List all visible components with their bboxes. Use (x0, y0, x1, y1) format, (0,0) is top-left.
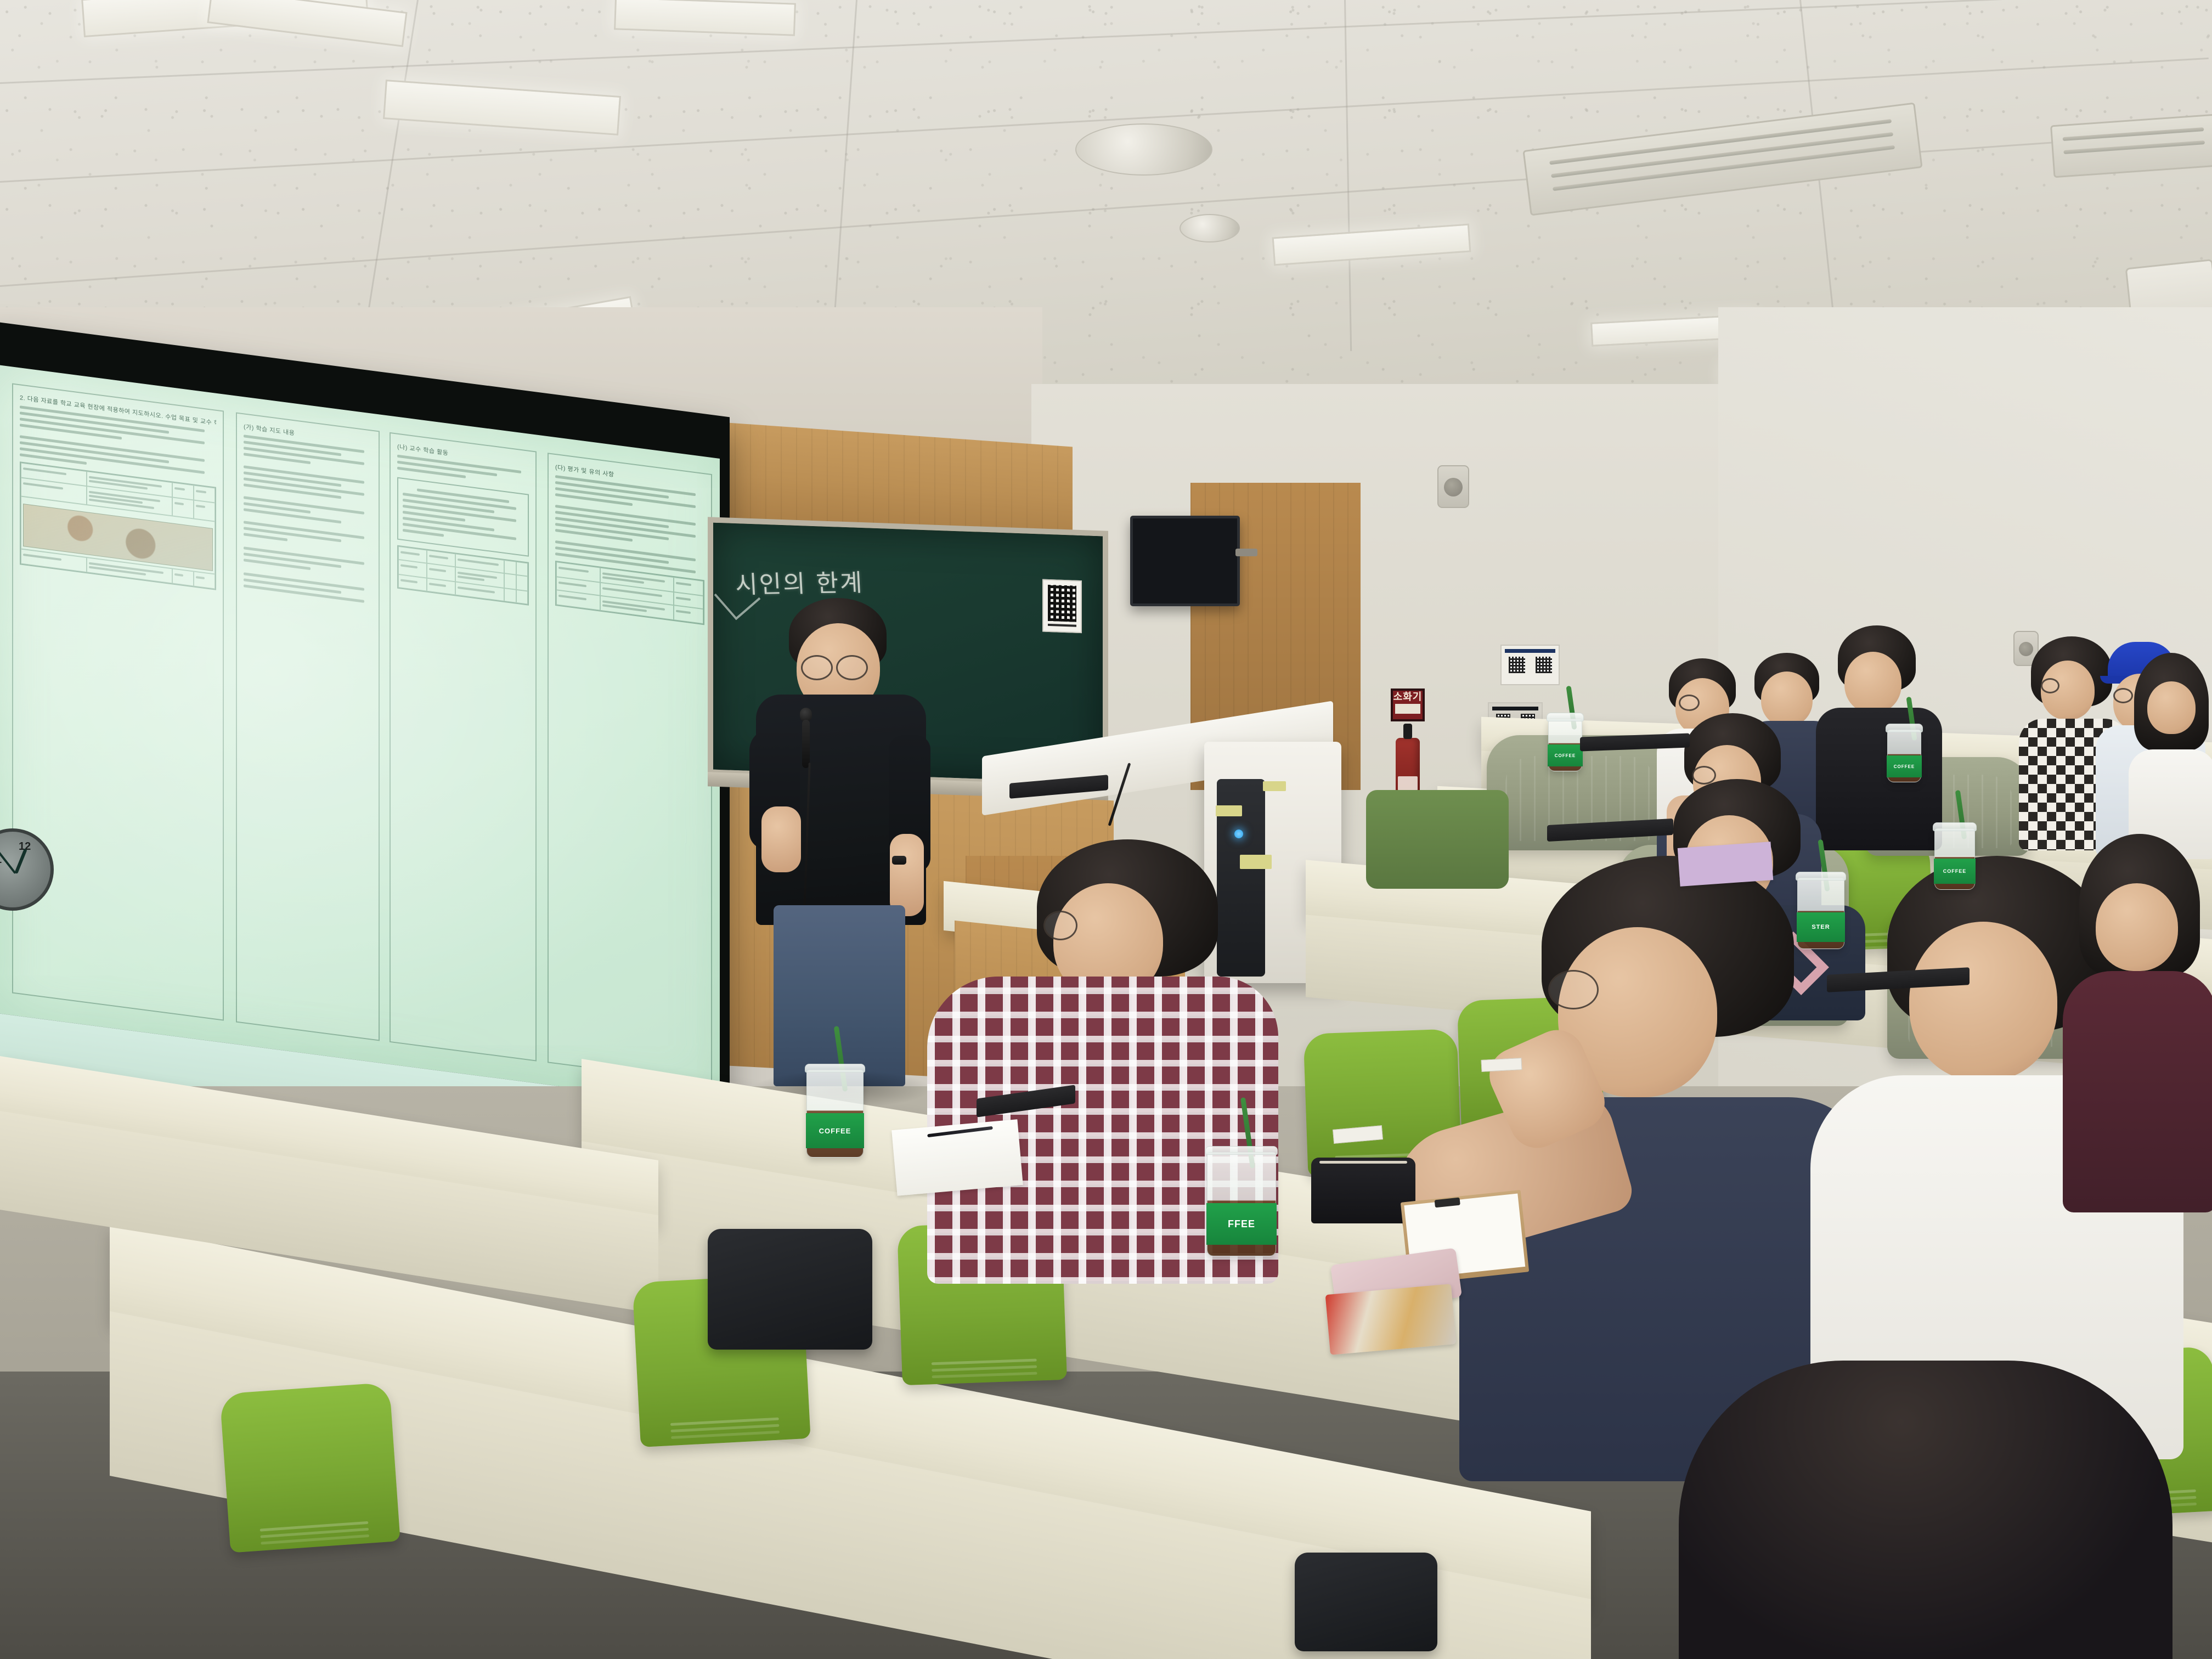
wristwatch (892, 856, 906, 865)
qr-code-icon (1536, 657, 1552, 673)
cup-lid (1796, 872, 1846, 881)
glasses-icon (801, 655, 833, 680)
ceiling-light-panel (614, 0, 796, 36)
attendee-long-hair-right (2129, 653, 2212, 861)
cup-lid (805, 1064, 865, 1073)
glasses-icon (1043, 911, 1077, 940)
glasses-icon (836, 655, 868, 680)
cup-lid (1933, 822, 1977, 831)
lecture-hall-photo: 소화기 2. 다음 자료를 학교 교육 현장에 적용하여 지도하시오. 수업 목… (0, 0, 2212, 1659)
glasses-icon (2041, 678, 2059, 693)
cup-sleeve: COFFEE (1887, 755, 1922, 777)
presenter-left-forearm (761, 806, 801, 872)
cup-sleeve-text: FFEE (1228, 1218, 1255, 1230)
ceiling-smoke-detector (1075, 123, 1212, 176)
slide-column-3: (나) 교수 학습 활동 (390, 432, 537, 1062)
cup-lid (1205, 1146, 1278, 1155)
cup-sleeve: COFFEE (1548, 744, 1583, 766)
slide-column-4: (다) 평가 및 유의 사항 (548, 453, 712, 1084)
qr-code-icon (1509, 657, 1525, 673)
cup-sleeve: COFFEE (806, 1113, 864, 1148)
snack-bag[interactable] (1325, 1284, 1457, 1355)
glasses-icon (1548, 970, 1599, 1009)
cup-sleeve-text: COFFEE (1943, 868, 1967, 874)
glasses-icon (1679, 695, 1700, 711)
clock-minute-hand (0, 848, 16, 874)
cup-sleeve-text: COFFEE (819, 1127, 851, 1135)
ceiling-smoke-detector (1180, 214, 1240, 242)
lectern-sticker (1263, 781, 1286, 791)
projection-screen-surface: 2. 다음 자료를 학교 교육 현장에 적용하여 지도하시오. 수업 목표 및 … (0, 365, 720, 1107)
projected-slide: 2. 다음 자료를 학교 교육 현장에 적용하여 지도하시오. 수업 목표 및 … (0, 365, 720, 1107)
iced-coffee-cup-1[interactable]: COFFEE (806, 1070, 864, 1158)
microphone[interactable] (802, 720, 810, 768)
chalkboard-writing: 시인의 한계 (734, 563, 864, 600)
iced-coffee-cup-2[interactable]: FFEE (1207, 1152, 1276, 1256)
slide-column-2: (가) 학습 지도 내용 (236, 412, 380, 1041)
purple-notebook[interactable] (1678, 842, 1773, 887)
desk-label (1481, 1058, 1522, 1072)
chair[interactable] (219, 1383, 400, 1553)
presenter-right-forearm (890, 834, 924, 916)
cup-lid (1886, 724, 1923, 732)
wall-tv-monitor[interactable] (1130, 516, 1240, 606)
lectern-power-led (1234, 830, 1243, 838)
presenter (730, 598, 960, 1092)
lectern-sticker (1216, 805, 1242, 816)
cup-sleeve-text: COFFEE (1555, 753, 1576, 758)
iced-coffee-cup-6[interactable]: COFFEE (1934, 828, 1975, 890)
fire-extinguisher-sign: 소화기 (1391, 689, 1425, 721)
ceiling-ac-vent (2050, 114, 2212, 178)
cup-sleeve-text: COFFEE (1894, 764, 1915, 769)
fire-extinguisher-sign-label: 소화기 (1393, 692, 1423, 702)
wall-qr-panel[interactable] (1500, 645, 1560, 685)
cup-lid (1547, 713, 1584, 721)
cup-sleeve: COFFEE (1934, 859, 1976, 884)
iced-coffee-cup-3[interactable]: STER (1797, 878, 1844, 949)
backpack[interactable] (1295, 1553, 1437, 1651)
tv-mount-arm (1235, 549, 1257, 556)
black-pouch[interactable] (1311, 1158, 1415, 1223)
attendee-long-hair-foreground (1679, 1361, 2172, 1659)
iced-coffee-cup-4[interactable]: COFFEE (1548, 719, 1582, 771)
qr-poster[interactable] (1042, 579, 1082, 634)
cup-sleeve-text: STER (1812, 924, 1830, 930)
backpack[interactable] (708, 1229, 872, 1350)
wall-speaker (1437, 465, 1469, 508)
cup-sleeve: STER (1797, 912, 1845, 942)
iced-coffee-cup-5[interactable]: COFFEE (1887, 730, 1921, 782)
slide-column-1: 2. 다음 자료를 학교 교육 현장에 적용하여 지도하시오. 수업 목표 및 … (12, 383, 224, 1020)
cup-sleeve: FFEE (1206, 1203, 1277, 1245)
attendee-maroon-top-right (2063, 834, 2212, 1218)
qr-code-icon (1048, 585, 1076, 622)
